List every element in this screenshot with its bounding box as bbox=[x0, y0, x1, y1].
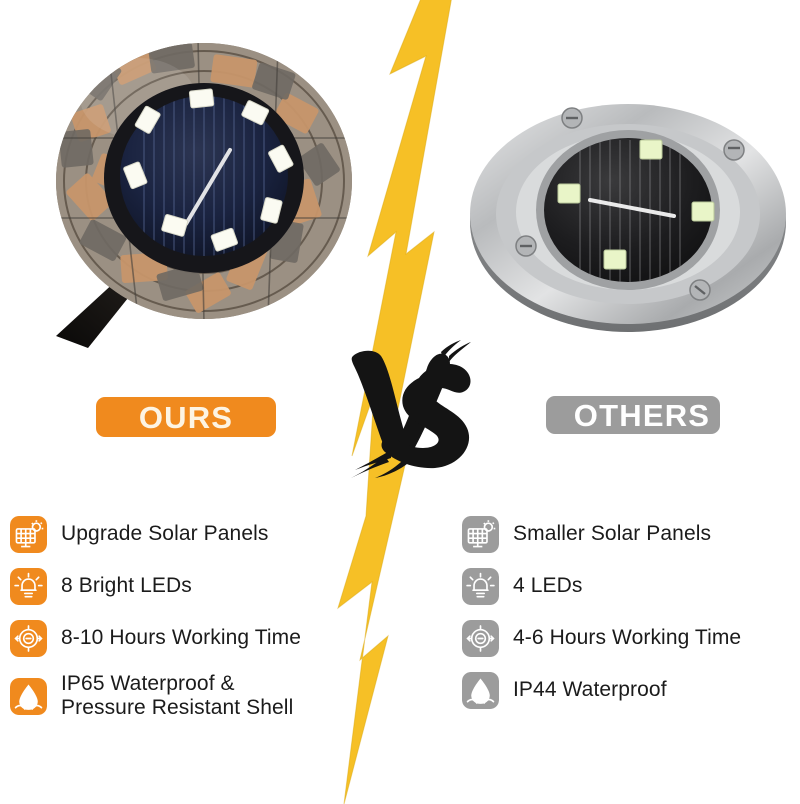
feature-label: 4 LEDs bbox=[513, 574, 582, 598]
led-bulb-icon bbox=[10, 568, 47, 605]
solar-panel-icon bbox=[10, 516, 47, 553]
vs-mark bbox=[345, 338, 485, 478]
others-feature-list: Smaller Solar Panels 4 LEDs bbox=[462, 508, 792, 716]
feature-row-waterproof: IP65 Waterproof & Pressure Resistant She… bbox=[10, 664, 380, 728]
solar-panel-icon bbox=[462, 516, 499, 553]
feature-row-leds: 8 Bright LEDs bbox=[10, 560, 380, 612]
infographic-canvas: OURS OTHERS Upgrade Solar Panels bbox=[0, 0, 800, 800]
ours-feature-list: Upgrade Solar Panels 8 Bright LEDs bbox=[10, 508, 380, 728]
clock-timer-icon bbox=[10, 620, 47, 657]
clock-timer-icon bbox=[462, 620, 499, 657]
ours-badge: OURS bbox=[96, 397, 276, 437]
feature-row-working-time: 8-10 Hours Working Time bbox=[10, 612, 380, 664]
others-badge: OTHERS bbox=[546, 396, 720, 434]
feature-label: Upgrade Solar Panels bbox=[61, 522, 268, 546]
ours-product-image bbox=[18, 18, 378, 358]
feature-row-solar-panels: Smaller Solar Panels bbox=[462, 508, 792, 560]
feature-row-leds: 4 LEDs bbox=[462, 560, 792, 612]
water-drop-icon bbox=[462, 672, 499, 709]
feature-row-waterproof: IP44 Waterproof bbox=[462, 664, 792, 716]
feature-label: 4-6 Hours Working Time bbox=[513, 626, 741, 650]
feature-row-solar-panels: Upgrade Solar Panels bbox=[10, 508, 380, 560]
feature-label: 8-10 Hours Working Time bbox=[61, 626, 301, 650]
feature-label: IP65 Waterproof & Pressure Resistant She… bbox=[61, 672, 293, 721]
feature-label: Smaller Solar Panels bbox=[513, 522, 711, 546]
feature-label: 8 Bright LEDs bbox=[61, 574, 192, 598]
others-product-image bbox=[462, 88, 792, 338]
ours-badge-label: OURS bbox=[139, 402, 233, 433]
others-badge-label: OTHERS bbox=[574, 400, 710, 431]
feature-label: IP44 Waterproof bbox=[513, 678, 667, 702]
led-bulb-icon bbox=[462, 568, 499, 605]
water-drop-icon bbox=[10, 678, 47, 715]
feature-row-working-time: 4-6 Hours Working Time bbox=[462, 612, 792, 664]
